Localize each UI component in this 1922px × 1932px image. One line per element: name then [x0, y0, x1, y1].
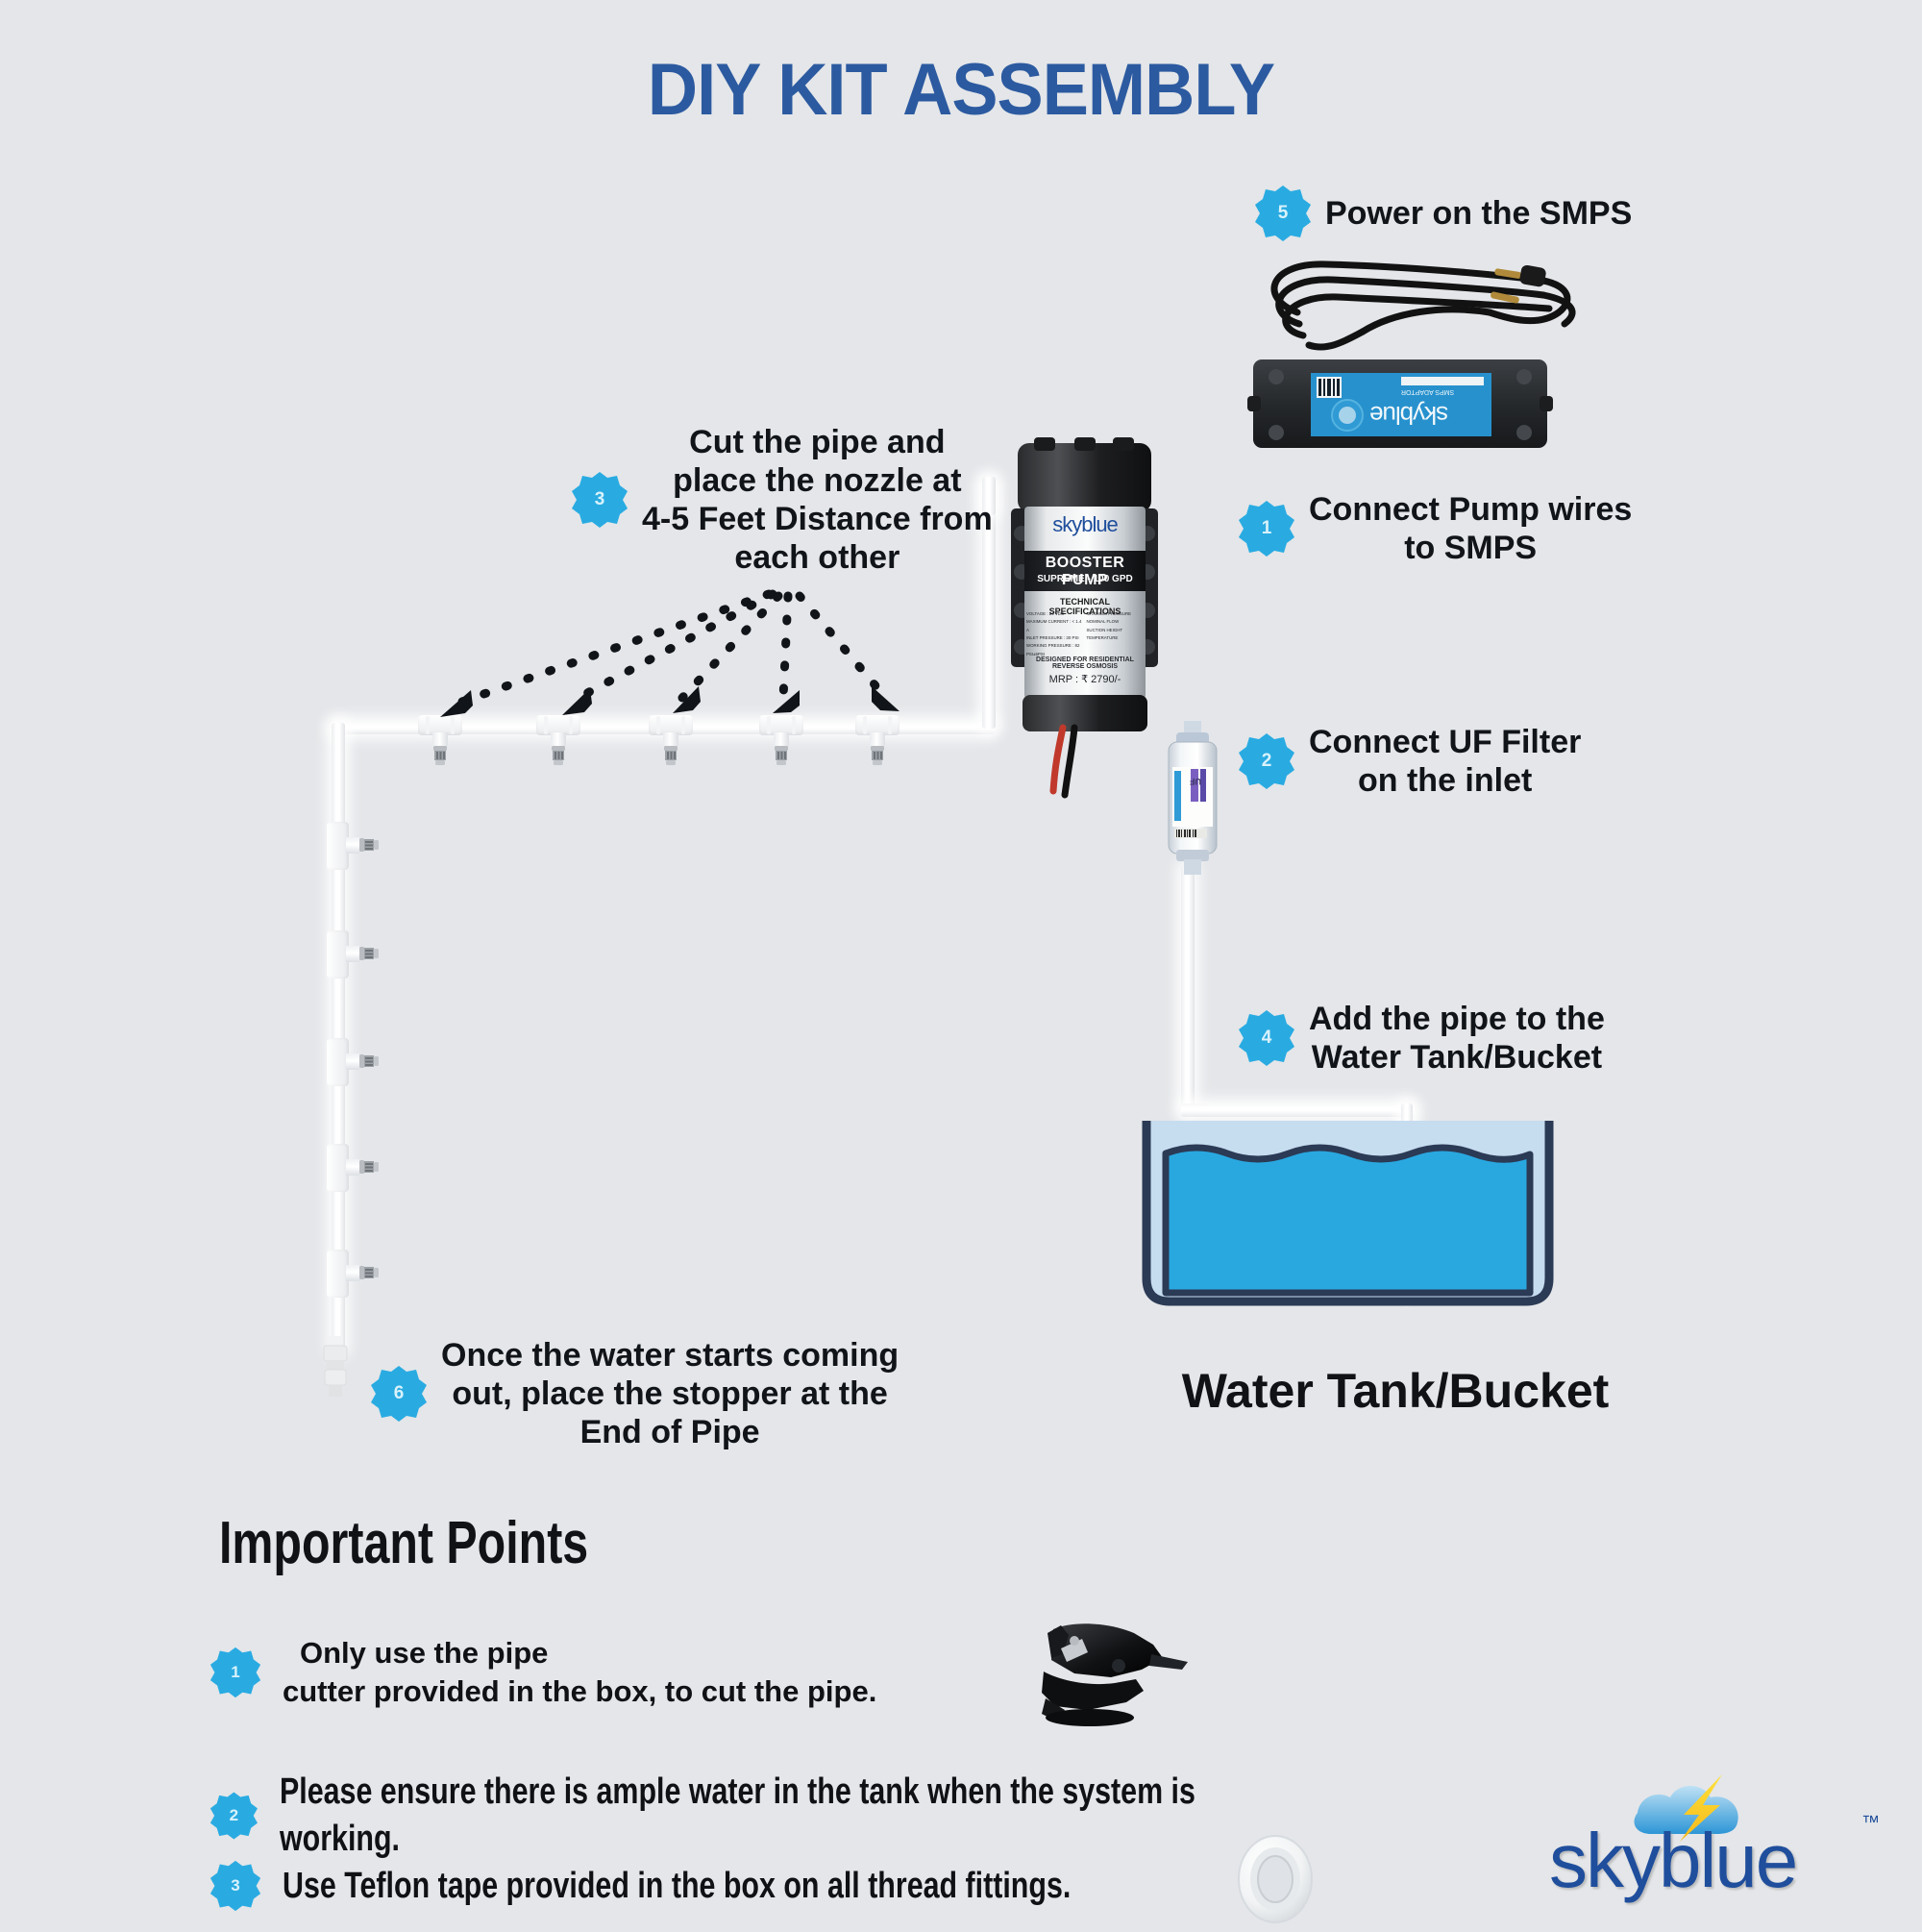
- step-3-text: Cut the pipe and place the nozzle at 4-5…: [642, 423, 993, 577]
- important-point-2-text: Please ensure there is ample water in th…: [280, 1769, 1262, 1862]
- pipe-tee-fitting: [327, 1038, 357, 1086]
- step-5-callout: 5 Power on the SMPS: [1254, 185, 1632, 242]
- step-badge-1-number: 1: [1238, 500, 1295, 557]
- logo-wordmark: skyblue: [1549, 1817, 1796, 1905]
- water-tank-label: Water Tank/Bucket: [1146, 1363, 1645, 1419]
- infographic-canvas: DIY KIT ASSEMBLY: [0, 0, 1922, 1922]
- water-tank: [1139, 1115, 1557, 1307]
- step-badge-4: 4: [1238, 1009, 1295, 1067]
- step-5-text: Power on the SMPS: [1325, 194, 1632, 233]
- point-badge-1-number: 1: [209, 1647, 261, 1698]
- step-badge-2-number: 2: [1238, 732, 1295, 790]
- step-badge-5-number: 5: [1254, 185, 1312, 242]
- step-badge-3-number: 3: [571, 471, 628, 529]
- point-badge-2-number: 2: [209, 1790, 259, 1842]
- step-1-callout: 1 Connect Pump wires to SMPS: [1238, 490, 1632, 567]
- step-badge-1: 1: [1238, 500, 1295, 557]
- pipe-tee-fitting: [327, 1144, 357, 1192]
- step-badge-6-number: 6: [370, 1365, 428, 1423]
- pump-mrp: MRP : ₹ 2790/-: [1024, 673, 1146, 685]
- pump-footer-note: DESIGNED FOR RESIDENTIAL REVERSE OSMOSIS: [1024, 656, 1146, 670]
- important-points-heading: Important Points: [219, 1509, 588, 1577]
- mist-nozzle-icon: [359, 1157, 381, 1177]
- skyblue-logo: skyblue ™: [1549, 1790, 1876, 1905]
- mist-nozzle-icon: [359, 835, 381, 855]
- step-badge-3: 3: [571, 471, 628, 529]
- step-2-callout: 2 Connect UF Filter on the inlet: [1238, 723, 1581, 800]
- step-badge-4-number: 4: [1238, 1009, 1295, 1067]
- point-badge-3: 3: [209, 1860, 261, 1912]
- step-badge-6: 6: [370, 1365, 428, 1423]
- point-badge-3-number: 3: [209, 1860, 261, 1912]
- step-3-callout: 3 Cut the pipe and place the nozzle at 4…: [571, 423, 993, 577]
- step-4-text: Add the pipe to the Water Tank/Bucket: [1309, 1000, 1605, 1077]
- step-badge-5: 5: [1254, 185, 1312, 242]
- important-point-1-text: Only use the pipe cutter provided in the…: [283, 1634, 876, 1710]
- uf-filter-label: UF: [1190, 777, 1201, 786]
- logo-tm: ™: [1861, 1813, 1880, 1834]
- step-4-callout: 4 Add the pipe to the Water Tank/Bucket: [1238, 1000, 1605, 1077]
- step-6-callout: 6 Once the water starts coming out, plac…: [370, 1336, 899, 1451]
- point-badge-1: 1: [209, 1647, 261, 1698]
- mist-nozzle-icon: [359, 1052, 381, 1072]
- important-point-3-text: Use Teflon tape provided in the box on a…: [283, 1863, 1071, 1910]
- step-badge-2: 2: [1238, 732, 1295, 790]
- booster-pump: skyblue BOOSTER PUMP SUPREME - 100 GPD T…: [1005, 437, 1164, 822]
- pipe-cutter-icon: [1019, 1610, 1192, 1735]
- smps-brand-label: skyblue: [1370, 400, 1448, 430]
- pipe-tee-fitting: [327, 1250, 357, 1298]
- nozzle-pointer-arrows: [365, 577, 1038, 759]
- smps-adapter: skyblue SMPS ADAPTOR: [1247, 356, 1553, 452]
- pump-brand: skyblue: [1024, 512, 1146, 537]
- pump-model: SUPREME - 100 GPD: [1024, 574, 1146, 584]
- uf-filter: UF: [1151, 721, 1234, 875]
- step-6-text: Once the water starts coming out, place …: [441, 1336, 899, 1451]
- step-2-text: Connect UF Filter on the inlet: [1309, 723, 1581, 800]
- pump-spec-table: VOLTAGE : 24 VDC MAXIMUM CURRENT : < 1.4…: [1026, 610, 1144, 658]
- smps-model-label: SMPS ADAPTOR: [1401, 388, 1454, 395]
- point-badge-2: 2: [209, 1790, 259, 1842]
- mist-nozzle-icon: [359, 944, 381, 964]
- filter-outlet-pipe: [1181, 865, 1195, 1110]
- page-title: DIY KIT ASSEMBLY: [48, 48, 1874, 132]
- teflon-tape-icon: [1222, 1826, 1328, 1932]
- step-1-text: Connect Pump wires to SMPS: [1309, 490, 1632, 567]
- pipe-tee-fitting: [327, 930, 357, 978]
- pipe-end-stopper-icon: [320, 1336, 351, 1405]
- mist-nozzle-icon: [359, 1263, 381, 1283]
- pipe-tee-fitting: [327, 822, 357, 870]
